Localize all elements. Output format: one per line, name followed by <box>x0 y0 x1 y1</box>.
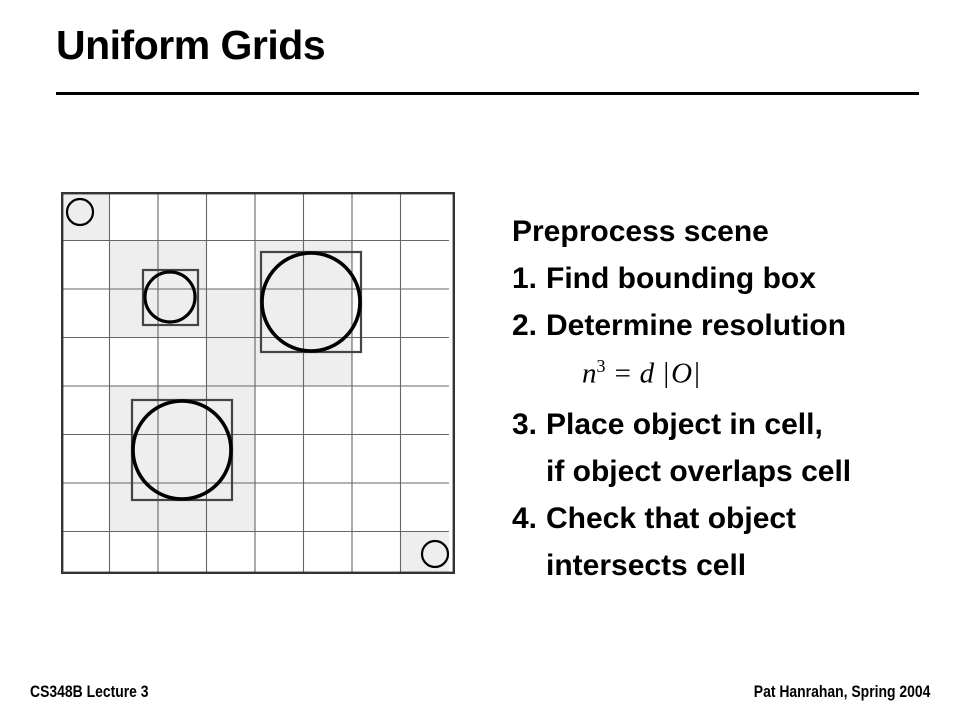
list-item-2: 2. Determine resolution <box>512 302 942 349</box>
list-item-3-continuation: if object overlaps cell <box>512 448 942 495</box>
list-item-2-label: Determine resolution <box>546 302 942 349</box>
slide-footer: CS348B Lecture 3 Pat Hanrahan, Spring 20… <box>30 682 930 706</box>
list-item-1-number: 1. <box>512 255 546 302</box>
list-item-3-label: Place object in cell, <box>546 401 942 448</box>
title-divider <box>56 92 919 95</box>
formula-pipe-left: | <box>661 357 671 389</box>
formula-O: O <box>671 357 692 389</box>
formula-equals: = <box>613 357 633 389</box>
list-heading: Preprocess scene <box>512 208 942 255</box>
formula-pipe-right: | <box>692 357 702 389</box>
formula-exponent: 3 <box>597 356 606 376</box>
formula-row: n3 = d |O| <box>512 351 942 395</box>
page-title: Uniform Grids <box>56 22 325 69</box>
shaded-cell-block-5 <box>401 532 450 575</box>
formula-base: n <box>582 357 597 389</box>
footer-author-label: Pat Hanrahan, Spring 2004 <box>753 682 930 702</box>
list-item-1: 1. Find bounding box <box>512 255 942 302</box>
list-item-1-label: Find bounding box <box>546 255 942 302</box>
uniform-grid-diagram <box>61 192 455 574</box>
list-item-3: 3. Place object in cell, <box>512 401 942 448</box>
list-item-4-label: Check that object <box>546 495 942 542</box>
list-item-3-number: 3. <box>512 401 546 448</box>
list-item-2-number: 2. <box>512 302 546 349</box>
list-item-4-continuation: intersects cell <box>512 542 942 589</box>
grid-svg <box>61 192 455 574</box>
preprocess-steps-list: Preprocess scene 1. Find bounding box 2.… <box>512 208 942 589</box>
formula-d: d <box>640 357 655 389</box>
slide-canvas: Uniform Grids Preprocess scene 1. Find b… <box>0 0 960 720</box>
list-item-4-number: 4. <box>512 495 546 542</box>
list-item-4: 4. Check that object <box>512 495 942 542</box>
footer-course-label: CS348B Lecture 3 <box>30 682 149 702</box>
resolution-formula: n3 = d |O| <box>582 356 702 391</box>
